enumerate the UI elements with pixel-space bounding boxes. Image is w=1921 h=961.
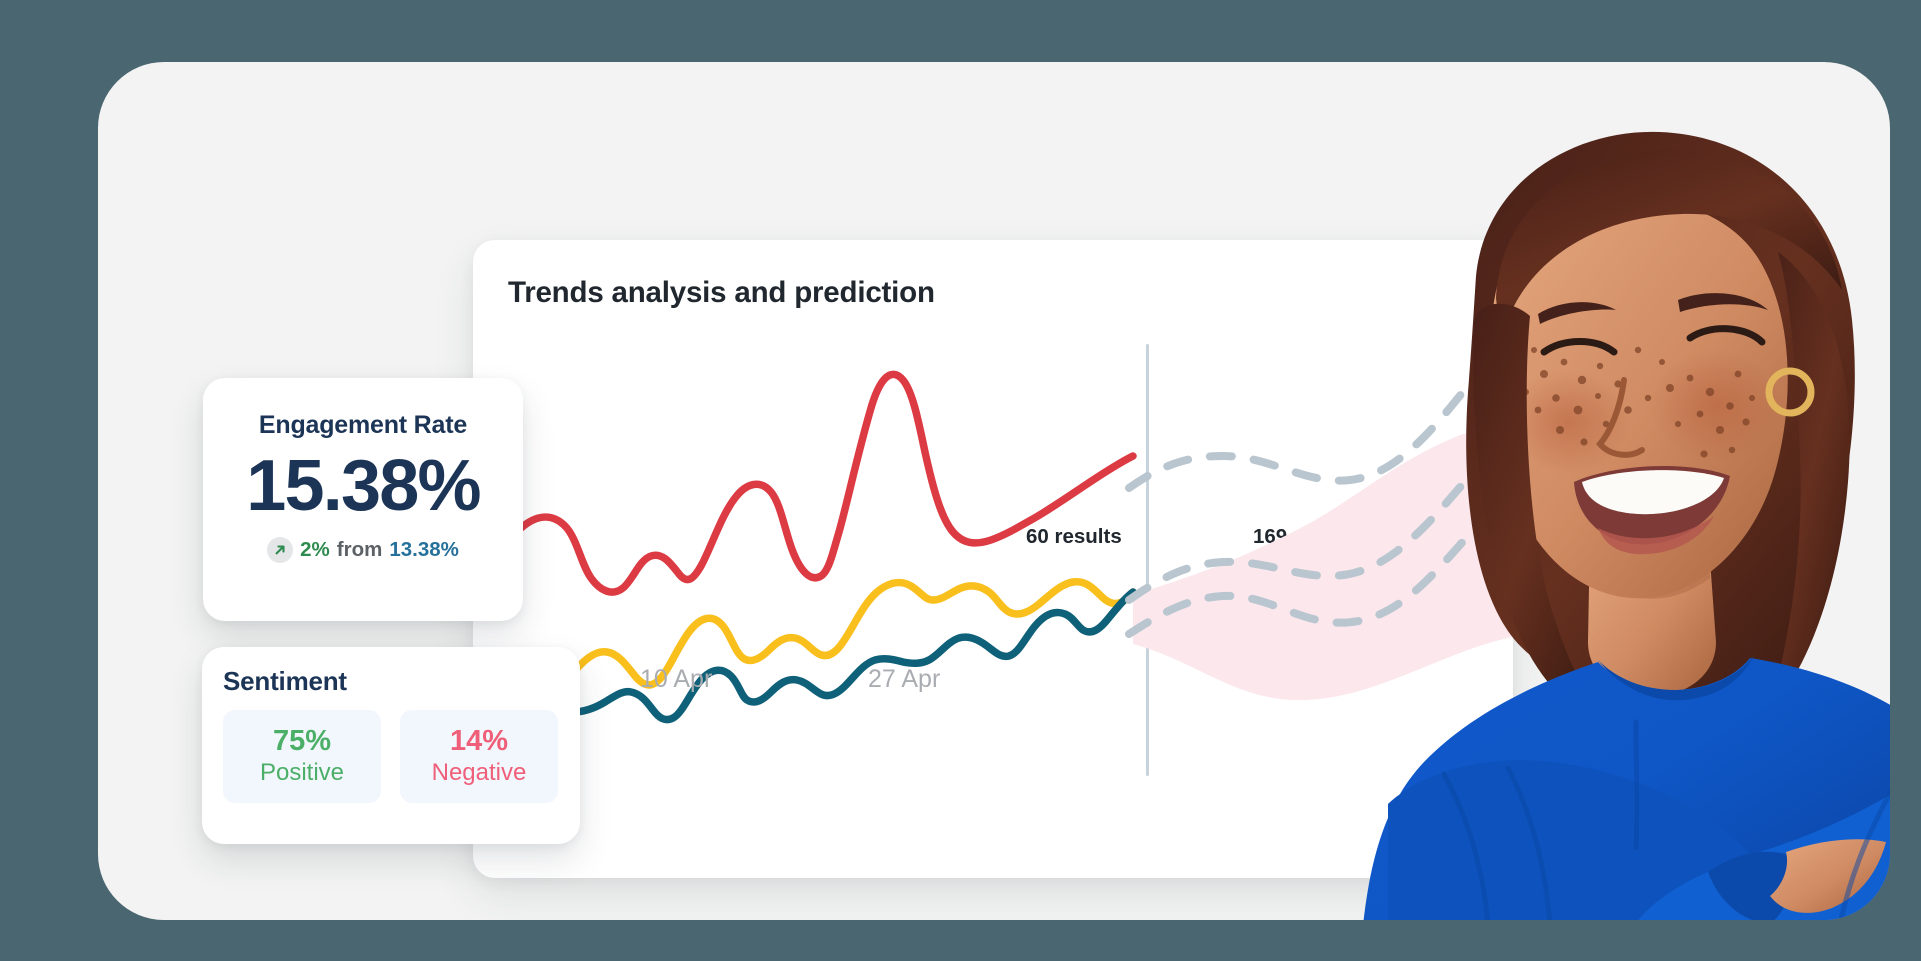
hair-right-volume	[1768, 252, 1850, 714]
sentiment-positive-label: Positive	[260, 759, 344, 788]
trends-chart-card[interactable]: Trends analysis and prediction 60 result…	[473, 240, 1513, 878]
sentiment-negative-label: Negative	[432, 759, 527, 788]
face	[1490, 199, 1788, 598]
sentiment-title: Sentiment	[223, 666, 347, 697]
teeth	[1582, 470, 1724, 514]
sentiment-tiles: 75% Positive 14% Negative	[223, 710, 558, 803]
sentiment-tile-negative[interactable]: 14% Negative	[400, 710, 558, 803]
dashboard-panel: Trends analysis and prediction 60 result…	[98, 62, 1890, 920]
x-axis-tick-1: 10 Apr	[640, 665, 712, 694]
eyebrow-right	[1678, 293, 1768, 312]
sweater-collar	[1598, 656, 1754, 700]
engagement-previous-value: 13.38%	[389, 538, 459, 562]
sweater-cuff	[1708, 852, 1791, 920]
engagement-rate-card[interactable]: Engagement Rate 15.38% 2% from 13.38%	[203, 378, 523, 621]
freckles	[1523, 347, 1755, 458]
eyebrow-left	[1538, 302, 1616, 324]
forearm-skin	[1770, 839, 1886, 913]
face-details	[1506, 293, 1782, 554]
screenshot-stage: Trends analysis and prediction 60 result…	[0, 0, 1921, 961]
sentiment-tile-positive[interactable]: 75% Positive	[223, 710, 381, 803]
engagement-rate-title: Engagement Rate	[203, 411, 523, 440]
earring-icon	[1769, 371, 1811, 413]
engagement-delta-value: 2%	[300, 538, 330, 562]
red-trend-line	[481, 374, 1133, 592]
engagement-rate-delta: 2% from 13.38%	[203, 537, 523, 563]
sentiment-positive-percent: 75%	[273, 725, 331, 758]
mouth	[1574, 466, 1730, 544]
engagement-rate-value: 15.38%	[203, 450, 523, 523]
neck-shadow	[1590, 536, 1710, 599]
eye-left	[1544, 342, 1614, 353]
arrow-up-right-icon	[267, 537, 293, 563]
cheek-blush-left	[1506, 370, 1630, 474]
right-arm	[1618, 762, 1890, 920]
lower-lip	[1598, 516, 1714, 554]
neck	[1588, 532, 1716, 696]
eye-right	[1690, 329, 1762, 342]
nose	[1600, 380, 1642, 455]
cheek-blush-right	[1650, 350, 1782, 462]
sentiment-card[interactable]: Sentiment 75% Positive 14% Negative	[202, 647, 580, 844]
hair-front	[1496, 150, 1842, 317]
hair-back	[1466, 132, 1855, 755]
engagement-delta-connector: from	[337, 538, 383, 562]
sentiment-negative-percent: 14%	[450, 725, 508, 758]
trends-plot	[473, 240, 1513, 878]
x-axis-tick-2: 27 Apr	[868, 665, 940, 694]
